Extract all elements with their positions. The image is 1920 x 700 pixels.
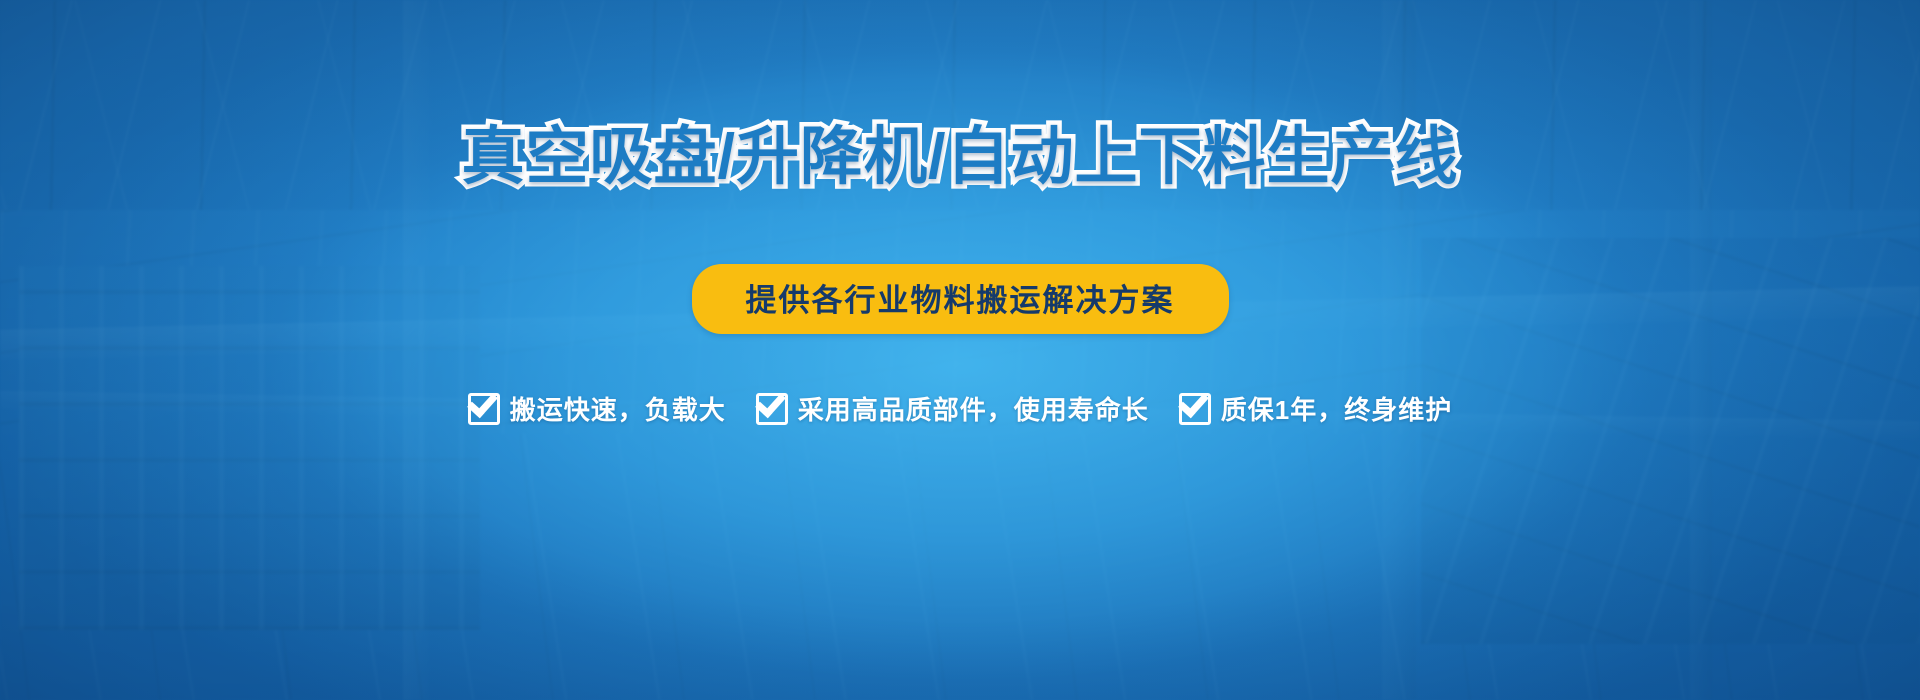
- feature-item-3: 质保1年，终身维护: [1179, 390, 1452, 427]
- check-mark-icon: [1178, 387, 1209, 418]
- banner-headline: 真空吸盘/升降机/自动上下料生产线: [461, 124, 1458, 190]
- banner-content: 真空吸盘/升降机/自动上下料生产线 提供各行业物料搬运解决方案 搬运快速，负载大…: [0, 0, 1920, 700]
- feature-list: 搬运快速，负载大 采用高品质部件，使用寿命长 质保1年，终身维护: [468, 390, 1453, 427]
- tagline-pill: 提供各行业物料搬运解决方案: [692, 264, 1229, 334]
- checkbox-checked-icon: [468, 393, 500, 425]
- feature-item-2: 采用高品质部件，使用寿命长: [756, 390, 1149, 427]
- checkbox-checked-icon: [1179, 393, 1211, 425]
- feature-item-1: 搬运快速，负载大: [468, 390, 726, 427]
- feature-label-2: 采用高品质部件，使用寿命长: [798, 390, 1149, 427]
- feature-label-1: 搬运快速，负载大: [510, 390, 726, 427]
- check-mark-icon: [755, 387, 786, 418]
- checkbox-checked-icon: [756, 393, 788, 425]
- feature-label-3: 质保1年，终身维护: [1221, 390, 1452, 427]
- check-mark-icon: [467, 387, 498, 418]
- hero-banner: 真空吸盘/升降机/自动上下料生产线 提供各行业物料搬运解决方案 搬运快速，负载大…: [0, 0, 1920, 700]
